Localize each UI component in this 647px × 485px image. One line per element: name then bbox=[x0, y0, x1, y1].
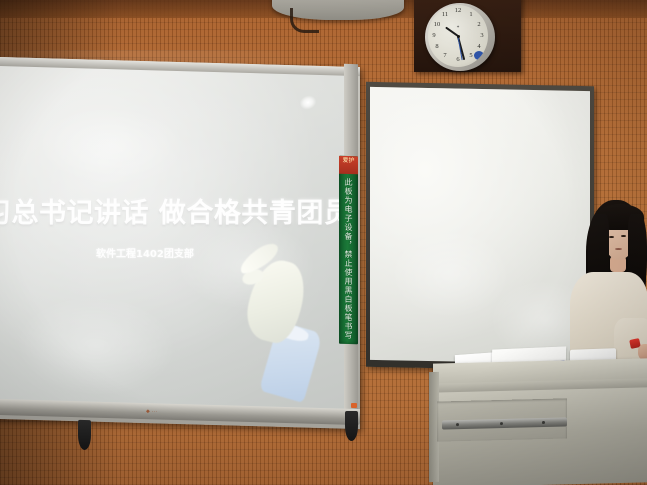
clock-numeral: 12 bbox=[453, 7, 463, 15]
right-board-surface bbox=[370, 87, 590, 364]
clock-numeral: 2 bbox=[474, 21, 484, 29]
board-brand-logo: ◆ ··· bbox=[146, 409, 178, 418]
clock-numeral: 10 bbox=[432, 21, 442, 29]
notice-sign-header: 爱护 bbox=[339, 156, 358, 175]
notice-sign-text: 此板为电子设备，禁止使用黑白板笔书写 bbox=[339, 178, 358, 341]
board-smudge bbox=[16, 294, 176, 398]
corner-sticker bbox=[351, 403, 357, 408]
hanging-clip bbox=[345, 411, 358, 441]
rail-screw bbox=[542, 421, 545, 424]
slide-subtitle: 软件工程1402团支部 bbox=[96, 245, 194, 260]
ceiling-bracket-icon bbox=[290, 8, 319, 33]
person-eye bbox=[621, 235, 626, 237]
rail-screw bbox=[500, 422, 503, 425]
clock-numeral: 9 bbox=[429, 32, 439, 40]
classroom-notice-sign: 爱护 此板为电子设备，禁止使用黑白板笔书写 bbox=[339, 156, 358, 345]
slide-title: 习总书记讲话 做合格共青团员 bbox=[0, 191, 351, 230]
clock-numeral: 7 bbox=[440, 52, 450, 60]
hanging-clip bbox=[78, 420, 91, 450]
clock-numeral: 1 bbox=[466, 11, 476, 19]
pointing-hand-icon bbox=[232, 248, 336, 398]
clock-numeral: 4 bbox=[474, 43, 484, 51]
person-eye bbox=[609, 236, 614, 238]
rail-screw bbox=[456, 423, 459, 426]
clock-second-counterweight bbox=[474, 51, 484, 60]
classroom-scene: ✦ 12 1 2 3 4 5 6 7 8 9 10 11 习总书记讲话 做合格共… bbox=[0, 0, 647, 485]
clock-numeral: 3 bbox=[477, 32, 487, 40]
clock-numeral: 8 bbox=[432, 43, 442, 51]
board-smudge bbox=[36, 104, 186, 188]
clock-face: ✦ 12 1 2 3 4 5 6 7 8 9 10 11 bbox=[428, 5, 488, 67]
clock-brand-mark: ✦ bbox=[456, 24, 459, 29]
person-mouth bbox=[615, 248, 622, 250]
clock-center-pin bbox=[457, 35, 460, 38]
notice-sign-header-text: 爱护 bbox=[339, 156, 358, 166]
clock-numeral: 11 bbox=[440, 11, 450, 19]
